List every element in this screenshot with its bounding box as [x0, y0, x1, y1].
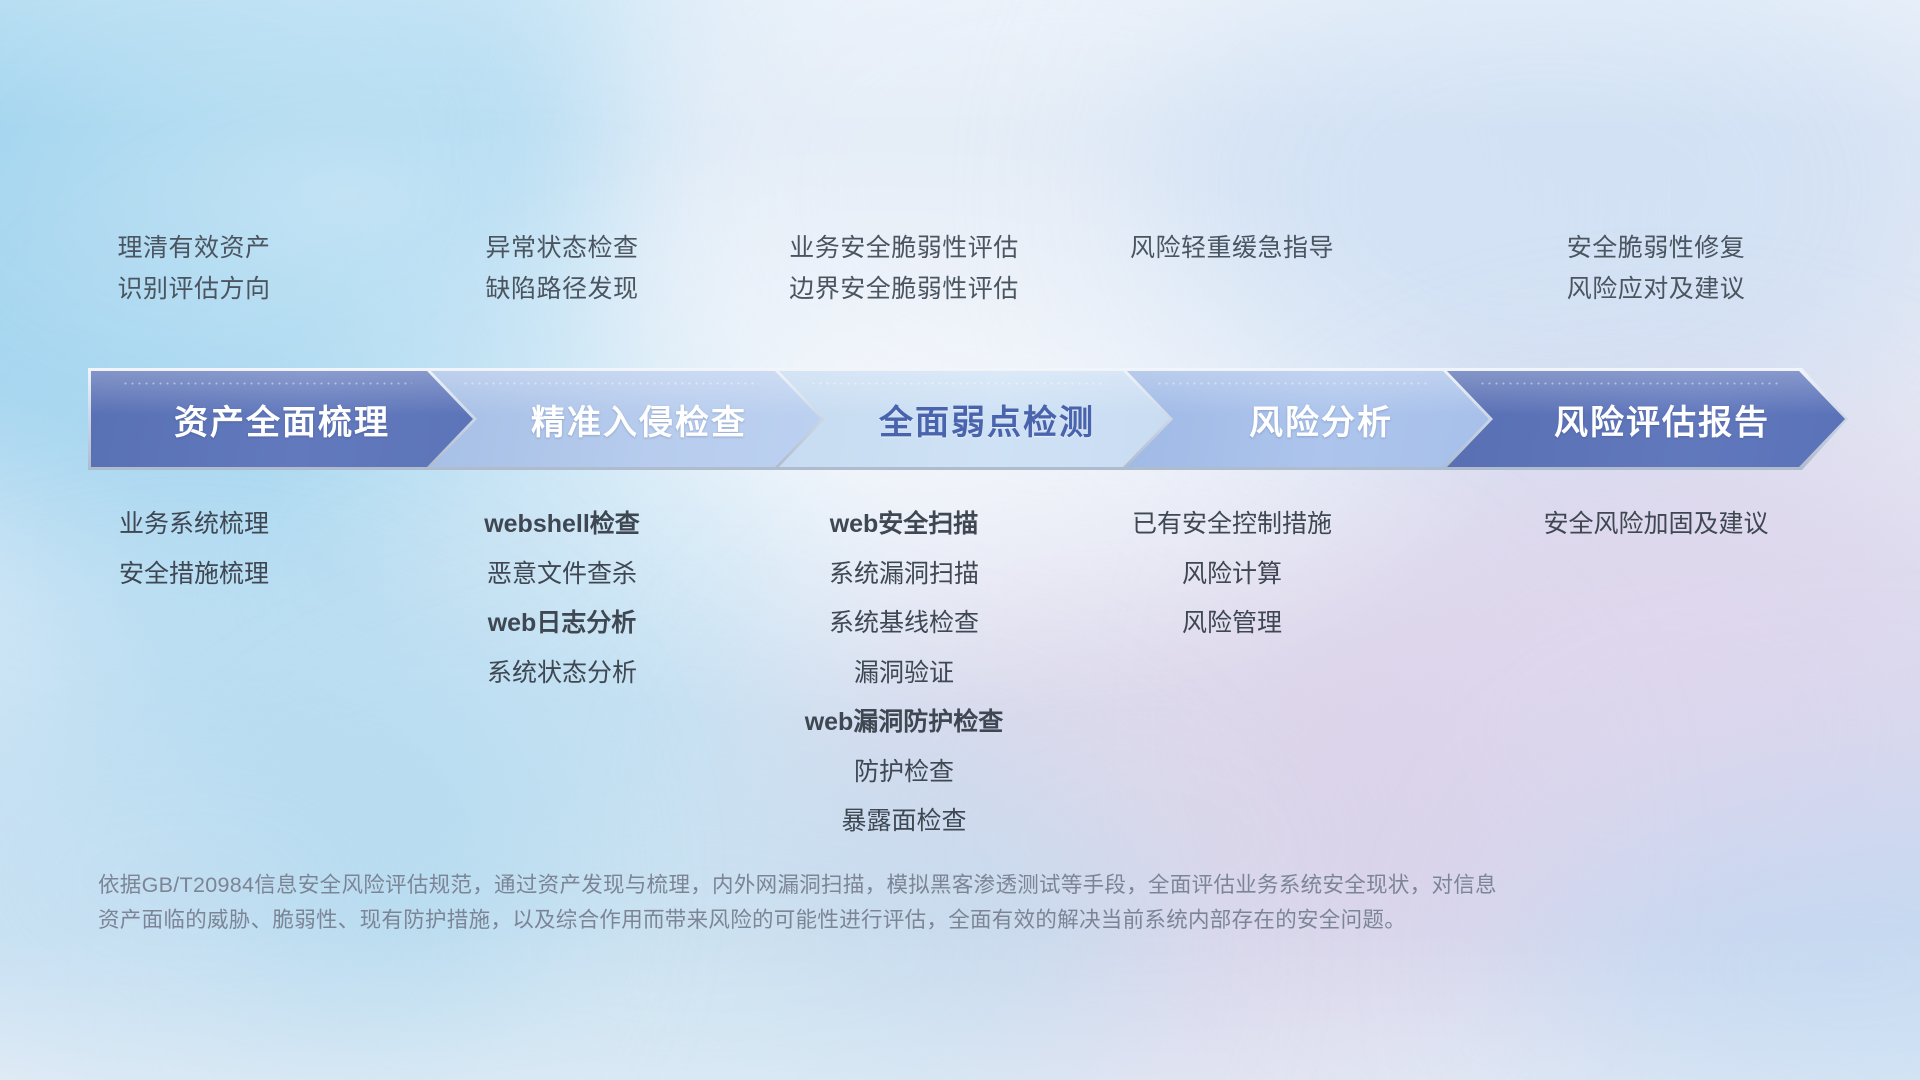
bottom-list-item: 已有安全控制措施: [1072, 500, 1392, 550]
chevron-dot-texture: [1156, 380, 1431, 387]
bottom-list-risk-analysis: 已有安全控制措施 风险计算 风险管理: [1072, 500, 1392, 847]
process-chevron-band: 资产全面梳理 精准入侵检查 全面弱点检测: [88, 368, 1848, 470]
bottom-list-item: 安全措施梳理: [0, 550, 388, 600]
bottom-list-asset-inventory: 业务系统梳理 安全措施梳理: [0, 500, 388, 847]
top-callout-line: 安全脆弱性修复: [1392, 228, 1920, 269]
top-callout-line: 业务安全脆弱性评估: [736, 228, 1072, 269]
chevron-stage-label: 全面弱点检测: [879, 395, 1095, 444]
slide-canvas: 理清有效资产 识别评估方向 异常状态检查 缺陷路径发现 业务安全脆弱性评估 边界…: [0, 0, 1920, 1080]
bottom-list-item: 系统漏洞扫描: [736, 550, 1072, 600]
top-callout-weakness-detection: 业务安全脆弱性评估 边界安全脆弱性评估: [736, 228, 1072, 309]
bottom-list-item: 防护检查: [736, 748, 1072, 798]
top-callout-line: 识别评估方向: [0, 269, 388, 310]
bottom-list-item: 系统状态分析: [388, 649, 736, 699]
bottom-list-assessment-report: 安全风险加固及建议: [1392, 500, 1920, 847]
chevron-stage-asset-inventory[interactable]: 资产全面梳理: [88, 368, 476, 470]
chevron-stage-label: 风险分析: [1249, 395, 1393, 444]
bottom-detail-row: 业务系统梳理 安全措施梳理 webshell检查 恶意文件查杀 web日志分析 …: [0, 500, 1920, 847]
top-callout-risk-analysis: 风险轻重缓急指导: [1072, 228, 1392, 309]
top-callout-line: 风险应对及建议: [1392, 269, 1920, 310]
top-callout-asset-inventory: 理清有效资产 识别评估方向: [0, 228, 388, 309]
top-callout-assessment-report: 安全脆弱性修复 风险应对及建议: [1392, 228, 1920, 309]
top-callout-intrusion-check: 异常状态检查 缺陷路径发现: [388, 228, 736, 309]
bottom-list-item: webshell检查: [388, 500, 736, 550]
chevron-stage-label: 资产全面梳理: [174, 395, 390, 444]
chevron-dot-texture: [462, 380, 758, 387]
chevron-stage-label: 精准入侵检查: [531, 395, 747, 444]
bottom-list-item: web漏洞防护检查: [736, 698, 1072, 748]
bottom-list-item: 系统基线检查: [736, 599, 1072, 649]
chevron-dot-texture: [1479, 380, 1782, 387]
footer-line-1: 依据GB/T20984信息安全风险评估规范，通过资产发现与梳理，内外网漏洞扫描，…: [98, 868, 1658, 903]
bottom-list-item: 恶意文件查杀: [388, 550, 736, 600]
chevron-stage-weakness-detection[interactable]: 全面弱点检测: [776, 368, 1172, 470]
footer-line-2: 资产面临的威胁、脆弱性、现有防护措施，以及综合作用而带来风险的可能性进行评估，全…: [98, 903, 1658, 938]
top-callout-line: 缺陷路径发现: [388, 269, 736, 310]
top-callout-line: 理清有效资产: [0, 228, 388, 269]
footer-description: 依据GB/T20984信息安全风险评估规范，通过资产发现与梳理，内外网漏洞扫描，…: [98, 868, 1658, 938]
bottom-list-item: 风险管理: [1072, 599, 1392, 649]
chevron-stage-label: 风险评估报告: [1554, 395, 1770, 444]
bottom-list-item: 漏洞验证: [736, 649, 1072, 699]
top-callout-line: 异常状态检查: [388, 228, 736, 269]
bottom-list-item: 风险计算: [1072, 550, 1392, 600]
chevron-stage-risk-analysis[interactable]: 风险分析: [1124, 368, 1492, 470]
bottom-list-weakness-detection: web安全扫描 系统漏洞扫描 系统基线检查 漏洞验证 web漏洞防护检查 防护检…: [736, 500, 1072, 847]
bottom-list-item: web安全扫描: [736, 500, 1072, 550]
chevron-dot-texture: [122, 380, 412, 387]
top-callout-row: 理清有效资产 识别评估方向 异常状态检查 缺陷路径发现 业务安全脆弱性评估 边界…: [0, 228, 1920, 309]
bottom-list-item: 业务系统梳理: [0, 500, 388, 550]
bottom-list-intrusion-check: webshell检查 恶意文件查杀 web日志分析 系统状态分析: [388, 500, 736, 847]
bottom-list-item: 暴露面检查: [736, 797, 1072, 847]
chevron-dot-texture: [810, 380, 1106, 387]
chevron-stage-intrusion-check[interactable]: 精准入侵检查: [428, 368, 824, 470]
top-callout-line: 风险轻重缓急指导: [1072, 228, 1392, 269]
bottom-list-item: 安全风险加固及建议: [1392, 500, 1920, 550]
chevron-stage-assessment-report[interactable]: 风险评估报告: [1444, 368, 1848, 470]
bottom-list-item: web日志分析: [388, 599, 736, 649]
top-callout-line: 边界安全脆弱性评估: [736, 269, 1072, 310]
